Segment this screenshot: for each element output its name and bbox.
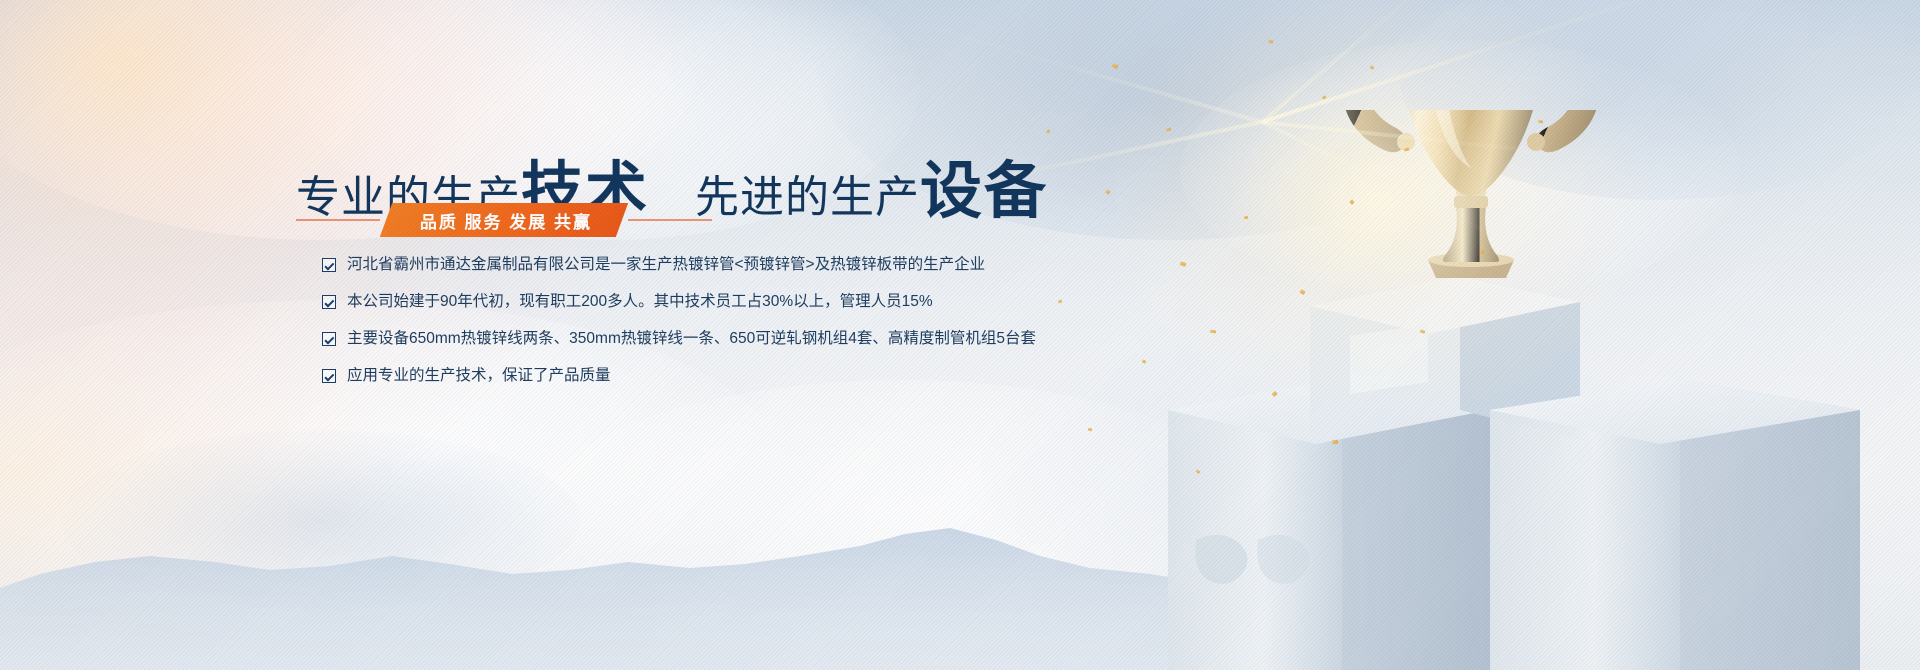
light-ray	[1261, 0, 1719, 124]
slogan-ribbon-row: 品质 服务 发展 共赢	[296, 202, 712, 238]
list-item: 应用专业的生产技术，保证了产品质量	[322, 359, 1036, 392]
light-ray	[1261, 0, 1516, 124]
cloud-shape	[1180, 40, 1740, 300]
checkbox-checked-icon	[322, 369, 336, 383]
cloud-shape	[1400, 0, 1920, 200]
list-item: 本公司始建于90年代初，现有职工200多人。其中技术员工占30%以上，管理人员1…	[322, 285, 1036, 318]
promo-banner: 专业的生产技术先进的生产设备 品质 服务 发展 共赢 河北省霸州市通达金属制品有…	[0, 0, 1920, 670]
slogan-text: 品质 服务 发展 共赢	[420, 208, 592, 233]
list-item-label: 河北省霸州市通达金属制品有限公司是一家生产热镀锌管<预镀锌管>及热镀锌板带的生产…	[347, 257, 985, 273]
slogan-ribbon: 品质 服务 发展 共赢	[380, 203, 629, 237]
list-item: 河北省霸州市通达金属制品有限公司是一家生产热镀锌管<预镀锌管>及热镀锌板带的生产…	[322, 248, 1036, 281]
ribbon-rule-right	[628, 219, 712, 221]
feature-bullet-list: 河北省霸州市通达金属制品有限公司是一家生产热镀锌管<预镀锌管>及热镀锌板带的生产…	[322, 248, 1036, 396]
checkbox-checked-icon	[322, 332, 336, 346]
list-item: 主要设备650mm热镀锌线两条、350mm热镀锌线一条、650可逆轧钢机组4套、…	[322, 322, 1036, 355]
light-ray	[1261, 120, 1532, 255]
trophy-light-glow	[1115, 0, 1735, 480]
banner-content: 专业的生产技术先进的生产设备 品质 服务 发展 共赢 河北省霸州市通达金属制品有…	[0, 0, 1100, 670]
checkbox-checked-icon	[322, 295, 336, 309]
list-item-label: 应用专业的生产技术，保证了产品质量	[347, 368, 611, 384]
ribbon-rule-left	[296, 219, 380, 221]
light-ray	[1262, 120, 1660, 166]
headline-part2-small: 先进的生产	[695, 173, 920, 222]
checkbox-checked-icon	[322, 258, 336, 272]
trophy-podium-illustration	[1160, 110, 1920, 670]
list-item-label: 本公司始建于90年代初，现有职工200多人。其中技术员工占30%以上，管理人员1…	[347, 294, 933, 310]
list-item-label: 主要设备650mm热镀锌线两条、350mm热镀锌线一条、650可逆轧钢机组4套、…	[347, 331, 1036, 347]
headline-part2-large: 设备	[920, 157, 1048, 226]
